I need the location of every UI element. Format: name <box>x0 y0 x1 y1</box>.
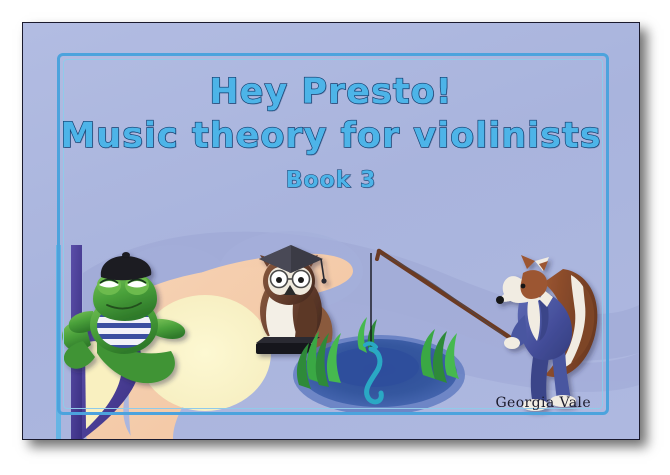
book-title-line-1: Hey Presto! <box>23 75 639 111</box>
book-cover-card: Hey Presto! Music theory for violinists … <box>22 22 640 440</box>
book-cover-page: Hey Presto! Music theory for violinists … <box>0 0 670 475</box>
author-name: Georgia Vale <box>495 395 591 411</box>
book-title-line-2: Music theory for violinists <box>23 119 639 155</box>
book-subtitle: Book 3 <box>23 170 639 192</box>
title-block: Hey Presto! Music theory for violinists … <box>23 75 639 193</box>
